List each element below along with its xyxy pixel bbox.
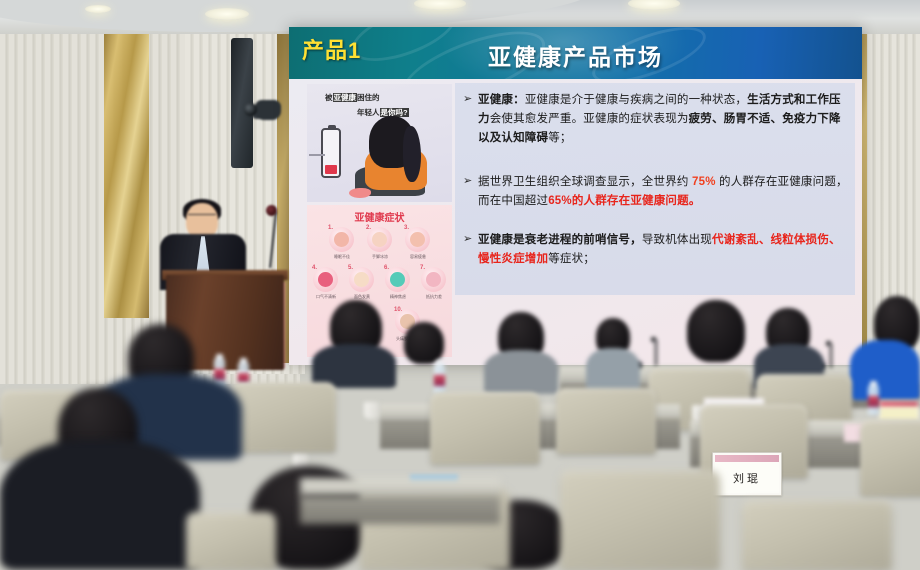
- bullet-point: ➢ 亚健康：亚健康是介于健康与疾病之间的一种状态，生活方式和工作压力会使其愈发严…: [463, 91, 851, 148]
- bottle-label: [868, 396, 879, 407]
- placard-header: [880, 402, 918, 406]
- symptom-item: 1. 睡眠不佳: [329, 227, 355, 252]
- symptom-bubble: [367, 227, 392, 252]
- bullet-text: 据世界卫生组织全球调查显示，全世界约 75% 的人群存在亚健康问题，而在中国超过…: [478, 173, 851, 211]
- bottle-label: [214, 369, 225, 380]
- low-battery-icon: [321, 128, 341, 178]
- water-bottle: [868, 385, 879, 415]
- bullet-stat-75: 75%: [692, 176, 716, 188]
- symptom-item: 7. 抵抗力差: [421, 267, 447, 292]
- bullet-segment: 导致机体出现: [642, 234, 712, 246]
- chair-foreground: [186, 512, 276, 570]
- chair: [230, 382, 336, 452]
- audience-head: [687, 300, 745, 362]
- symptom-bubble: [385, 267, 410, 292]
- ceiling-light: [85, 5, 111, 13]
- bullet-text: 亚健康：亚健康是介于健康与疾病之间的一种状态，生活方式和工作压力会使其愈发严重。…: [478, 91, 851, 148]
- symptom-bubble: [313, 267, 338, 292]
- bullet-stat-65: 65%的人群存在亚健康问题。: [548, 195, 700, 207]
- name-placard-liukun: 刘琨: [712, 452, 782, 496]
- water-bottle: [434, 364, 445, 394]
- bullet-segment: 会使其愈发严重。亚健康的症状表现为: [490, 113, 689, 125]
- slide-title: 亚健康产品市场: [289, 38, 862, 72]
- slide-banner: 产品1 亚健康产品市场: [289, 27, 862, 79]
- symptom-item: 5. 面色发黄: [349, 267, 375, 292]
- gooseneck-mic-head: [826, 341, 831, 346]
- bullet-point: ➢ 亚健康是衰老进程的前哨信号，导致机体出现代谢紊乱、线粒体损伤、慢性炎症增加等…: [463, 231, 851, 269]
- symptom-face: [318, 272, 333, 287]
- symptom-bubble: [405, 227, 430, 252]
- audience-shoulders-foreground: [0, 440, 200, 570]
- symptom-bubble: [329, 227, 354, 252]
- bullet-point: ➢ 据世界卫生组织全球调查显示，全世界约 75% 的人群存在亚健康问题，而在中国…: [463, 173, 851, 211]
- gooseneck-mic-stand: [655, 340, 657, 366]
- illustration-caption-line2: 年轻人是你吗?: [357, 107, 409, 118]
- bullet-segment: 亚健康是衰老进程的前哨信号，: [478, 234, 642, 246]
- bullet-segment: 等症状；: [548, 253, 595, 265]
- symptom-item: 6. 精神焦虑: [385, 267, 411, 292]
- paper-cup: [364, 402, 379, 419]
- bullet-segment: 据世界卫生组织全球调查显示，全世界约: [478, 176, 692, 188]
- chair: [430, 392, 540, 464]
- chair: [556, 388, 656, 454]
- bullet-marker: ➢: [463, 232, 472, 245]
- symptom-grid-title: 亚健康症状: [307, 209, 452, 224]
- desk-row-near: [300, 478, 500, 496]
- bullet-text: 亚健康是衰老进程的前哨信号，导致机体出现代谢紊乱、线粒体损伤、慢性炎症增加等症状…: [478, 231, 851, 269]
- chair-foreground: [742, 500, 892, 570]
- ceiling-light: [205, 8, 249, 20]
- symptom-label: 手脚冰凉: [364, 254, 396, 260]
- caption-pre: 被: [325, 93, 333, 102]
- symptom-label: 精神焦虑: [382, 294, 414, 300]
- symptom-face: [354, 272, 369, 287]
- audience-shoulders: [586, 348, 640, 392]
- symptom-item: 4. 口气不清新: [313, 267, 339, 292]
- bullet-segment: 等；: [548, 132, 571, 144]
- bullet-marker: ➢: [463, 92, 472, 105]
- bullet-marker: ➢: [463, 174, 472, 187]
- gooseneck-mic-head: [651, 337, 656, 342]
- symptom-label: 口气不清新: [310, 294, 342, 300]
- symptom-bubble: [421, 267, 446, 292]
- audience-shoulders: [484, 350, 558, 394]
- chair: [860, 420, 920, 496]
- audience-head: [404, 322, 444, 364]
- caption-post: 困住的: [357, 93, 380, 102]
- wall-camera-icon: [255, 100, 281, 120]
- presenter-glasses-icon: [188, 214, 216, 220]
- symptom-item: 2. 手脚冰凉: [367, 227, 393, 252]
- figure-hair-strand: [403, 126, 421, 182]
- bottle-label: [434, 375, 445, 386]
- symptom-label: 抵抗力差: [418, 294, 450, 300]
- chair-foreground: [560, 470, 720, 570]
- conference-room-scene: 产品1 亚健康产品市场 被亚健康困住的 年轻人是你吗?: [0, 0, 920, 570]
- battery-fill: [325, 165, 337, 174]
- caption-pre2: 年轻人: [357, 108, 380, 117]
- symptom-face: [426, 272, 441, 287]
- bullet-segment: 亚健康：: [478, 94, 525, 106]
- symptom-bubble: [349, 267, 374, 292]
- brass-wall-panel: [104, 18, 149, 318]
- symptom-item: 3. 容易疲惫: [405, 227, 431, 252]
- symptom-face: [410, 232, 425, 247]
- placard-name-text: 刘琨: [715, 462, 779, 493]
- symptom-label: 面色发黄: [346, 294, 378, 300]
- sub-health-illustration: 被亚健康困住的 年轻人是你吗?: [307, 84, 452, 202]
- podium-mic-icon: [266, 205, 277, 216]
- slide-text-panel: ➢ 亚健康：亚健康是介于健康与疾病之间的一种状态，生活方式和工作压力会使其愈发严…: [455, 83, 855, 295]
- symptom-face: [372, 232, 387, 247]
- desk-front-near: [300, 496, 500, 524]
- illustration-caption-line1: 被亚健康困住的: [325, 92, 380, 103]
- audience-shoulders: [850, 340, 920, 400]
- symptom-label: 容易疲惫: [402, 254, 434, 260]
- figure-foot: [349, 188, 371, 198]
- gooseneck-mic-stand: [830, 344, 832, 368]
- symptom-face: [390, 272, 405, 287]
- placard-header: [715, 455, 779, 462]
- caption-highlight: 亚健康: [333, 93, 358, 102]
- symptom-face: [334, 232, 349, 247]
- battery-wire: [309, 154, 325, 156]
- bullet-segment: 亚健康是介于健康与疾病之间的一种状态，: [525, 94, 747, 106]
- symptom-label: 睡眠不佳: [326, 254, 358, 260]
